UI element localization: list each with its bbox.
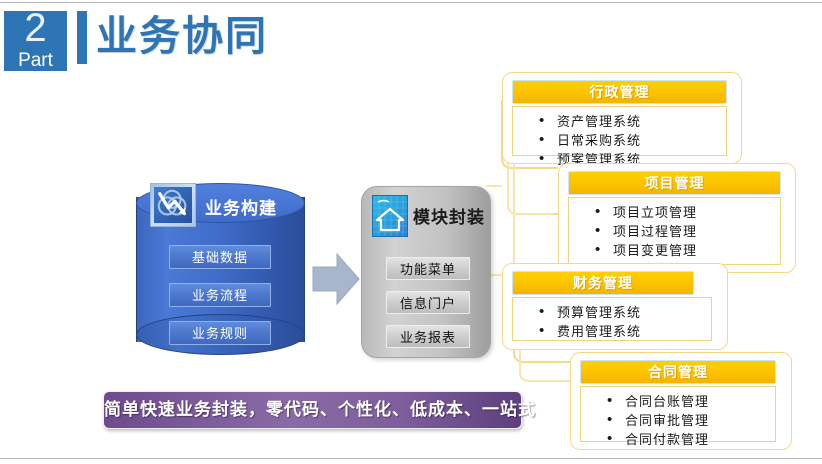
list-item[interactable]: 合同审批管理 xyxy=(607,411,771,430)
tagline-text: 简单快速业务封装，零代码、个性化、低成本、一站式 xyxy=(104,392,521,428)
page-title: 业务协同 xyxy=(96,8,268,64)
list-item[interactable]: 合同付款管理 xyxy=(607,430,771,449)
module-card-title: 行政管理 xyxy=(512,80,727,104)
list-item[interactable]: 合同台账管理 xyxy=(607,392,771,411)
module-card-title: 项目管理 xyxy=(568,171,781,195)
cylinder-chip-base-data[interactable]: 基础数据 xyxy=(169,245,271,269)
module-card-project[interactable]: 项目立项管理 项目过程管理 项目变更管理 项目收支管理 项目管理 xyxy=(558,163,796,273)
part-badge: 2 Part xyxy=(4,11,67,71)
cylinder-chip-business-rules[interactable]: 业务规则 xyxy=(169,321,271,345)
slide-canvas: 2 Part 业务协同 业务构建 xyxy=(0,0,822,464)
title-accent-bar xyxy=(77,11,87,64)
module-card-title: 合同管理 xyxy=(580,360,776,384)
module-card-body: 项目立项管理 项目过程管理 项目变更管理 项目收支管理 xyxy=(568,197,781,265)
list-item[interactable]: 费用管理系统 xyxy=(539,322,707,341)
module-card-body: 合同台账管理 合同审批管理 合同付款管理 xyxy=(580,386,776,442)
list-item[interactable]: 日常采购系统 xyxy=(539,131,722,150)
chart-trend-icon-glyph xyxy=(154,187,192,223)
cylinder-chip-business-process[interactable]: 业务流程 xyxy=(169,283,271,307)
list-item[interactable]: 项目变更管理 xyxy=(595,241,776,260)
blueprint-house-icon xyxy=(372,195,408,237)
chart-trend-icon xyxy=(150,183,196,227)
module-package-box: 模块封装 功能菜单 信息门户 业务报表 xyxy=(361,186,491,358)
business-build-cylinder: 业务构建 基础数据 业务流程 业务规则 xyxy=(136,183,305,356)
module-card-body: 资产管理系统 日常采购系统 预案管理系统 xyxy=(512,106,727,156)
list-item[interactable]: 资产管理系统 xyxy=(539,112,722,131)
module-card-body: 预算管理系统 费用管理系统 xyxy=(512,297,712,341)
top-divider-line xyxy=(0,2,822,3)
blueprint-house-icon-glyph xyxy=(373,196,407,236)
chart-trend-icon-inner xyxy=(154,187,192,223)
part-word-label: Part xyxy=(4,50,67,71)
list-item[interactable]: 项目立项管理 xyxy=(595,203,776,222)
cylinder-title: 业务构建 xyxy=(205,194,277,219)
gray-chip-function-menu[interactable]: 功能菜单 xyxy=(386,257,470,280)
list-item[interactable]: 项目过程管理 xyxy=(595,222,776,241)
tagline-banner: 简单快速业务封装，零代码、个性化、低成本、一站式 xyxy=(103,391,522,429)
module-card-contract[interactable]: 合同台账管理 合同审批管理 合同付款管理 合同管理 xyxy=(570,352,792,450)
gray-chip-business-report[interactable]: 业务报表 xyxy=(386,325,470,348)
list-item[interactable]: 预算管理系统 xyxy=(539,303,707,322)
bottom-divider-line xyxy=(0,458,822,459)
right-arrow-icon xyxy=(312,252,360,306)
module-card-finance[interactable]: 预算管理系统 费用管理系统 财务管理 xyxy=(502,263,728,350)
module-package-title: 模块封装 xyxy=(413,203,485,228)
gray-chip-info-portal[interactable]: 信息门户 xyxy=(386,291,470,314)
module-card-title: 财务管理 xyxy=(512,271,694,295)
part-number: 2 xyxy=(4,7,67,49)
module-card-admin[interactable]: 资产管理系统 日常采购系统 预案管理系统 行政管理 xyxy=(502,72,742,164)
